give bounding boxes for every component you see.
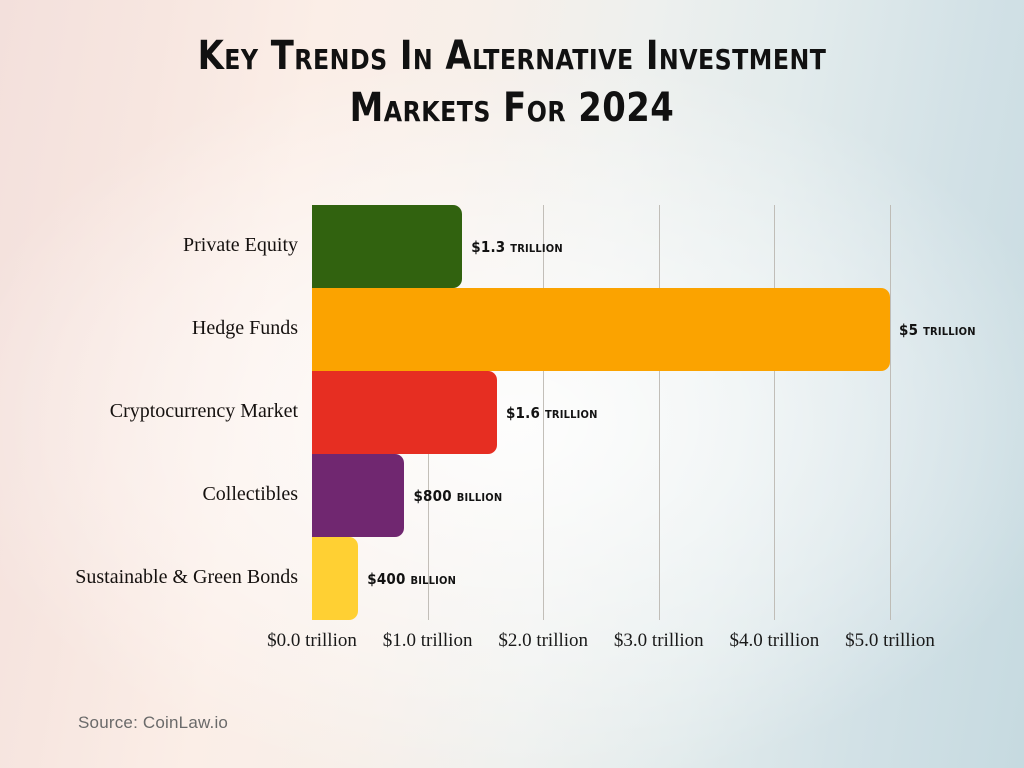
gridline-5 [890,205,891,620]
category-label: Cryptocurrency Market [0,400,298,423]
bar-cryptocurrency-market[interactable] [312,371,497,454]
bar-collectibles[interactable] [312,454,404,537]
chart-canvas: Key Trends in Alternative Investment Mar… [0,0,1024,768]
bar-value-label: $800 billion [413,487,502,505]
category-label: Private Equity [0,234,298,257]
bar-row[interactable]: $1.6 trillion [312,371,890,454]
x-tick-label: $4.0 trillion [730,630,820,652]
x-tick-label: $3.0 trillion [614,630,704,652]
x-tick-label: $0.0 trillion [267,630,357,652]
page-title-line-1: Key Trends in Alternative Investment [31,30,994,82]
bar-sustainable-green-bonds[interactable] [312,537,358,620]
bar-value-label: $1.3 trillion [471,238,563,256]
bar-row[interactable]: $1.3 trillion [312,205,890,288]
bar-hedge-funds[interactable] [312,288,890,371]
x-tick-label: $5.0 trillion [845,630,935,652]
page-title-line-2: Markets for 2024 [31,82,994,134]
bar-row[interactable]: $800 billion [312,454,890,537]
plot-area: $1.3 trillion$5 trillion$1.6 trillion$80… [312,205,890,620]
bar-row[interactable]: $5 trillion [312,288,890,371]
page-title: Key Trends in Alternative Investment Mar… [0,30,1024,134]
x-tick-label: $1.0 trillion [383,630,473,652]
bar-value-label: $5 trillion [899,321,976,339]
bar-value-label: $1.6 trillion [506,404,598,422]
bar-value-label: $400 billion [367,570,456,588]
category-label: Collectibles [0,483,298,506]
bar-private-equity[interactable] [312,205,462,288]
category-axis: Private EquityHedge FundsCryptocurrency … [0,205,298,620]
source-caption: Source: CoinLaw.io [78,713,228,733]
category-label: Sustainable & Green Bonds [0,566,298,589]
bar-row[interactable]: $400 billion [312,537,890,620]
x-axis: $0.0 trillion$1.0 trillion$2.0 trillion$… [312,630,890,660]
x-tick-label: $2.0 trillion [498,630,588,652]
category-label: Hedge Funds [0,317,298,340]
